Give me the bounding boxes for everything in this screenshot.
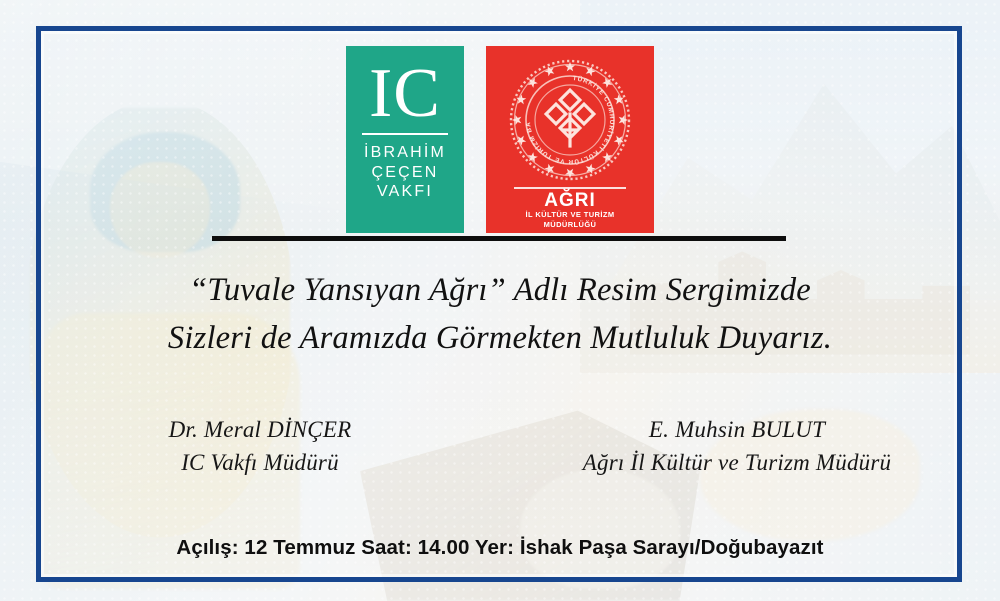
signatory-right-name: E. Muhsin BULUT <box>522 414 952 447</box>
signatories-row: Dr. Meral DİNÇER IC Vakfı Müdürü E. Muhs… <box>60 414 952 479</box>
logo-row: IC İBRAHİM ÇEÇEN VAKFI <box>0 46 1000 233</box>
ministry-emblem-icon: TÜRKİYE CUMHURİYETİ KÜLTÜR VE TURİZM BAK… <box>504 54 636 186</box>
ic-monogram: IC <box>369 62 441 126</box>
agri-logo-subtitle-one: İL KÜLTÜR VE TURİZM <box>526 210 615 220</box>
ic-logo-wordmark: İBRAHİM ÇEÇEN VAKFI <box>364 143 446 202</box>
ic-vakfi-logo: IC İBRAHİM ÇEÇEN VAKFI <box>346 46 464 233</box>
event-invitation-poster: IC İBRAHİM ÇEÇEN VAKFI <box>0 0 1000 601</box>
agri-culture-tourism-logo: TÜRKİYE CUMHURİYETİ KÜLTÜR VE TURİZM BAK… <box>486 46 654 233</box>
headline-line-1: “Tuvale Yansıyan Ağrı” Adlı Resim Sergim… <box>189 272 811 308</box>
svg-text:TÜRKİYE CUMHURİYETİ KÜLTÜR VE: TÜRKİYE CUMHURİYETİ KÜLTÜR VE TURİZM BAK… <box>504 54 615 167</box>
event-details-footer: Açılış: 12 Temmuz Saat: 14.00 Yer: İshak… <box>0 536 1000 560</box>
invitation-headline: “Tuvale Yansıyan Ağrı” Adlı Resim Sergim… <box>50 266 950 362</box>
agri-logo-title: AĞRI <box>544 191 596 211</box>
agri-logo-subtitle-two: MÜDÜRLÜĞÜ <box>544 220 597 230</box>
signatory-right: E. Muhsin BULUT Ağrı İl Kültür ve Turizm… <box>522 414 952 479</box>
ic-logo-line-3: VAKFI <box>364 182 446 202</box>
agri-logo-rule <box>514 187 626 189</box>
signatory-left: Dr. Meral DİNÇER IC Vakfı Müdürü <box>60 414 460 479</box>
ic-logo-line-2: ÇEÇEN <box>364 163 446 183</box>
signatory-left-role: IC Vakfı Müdürü <box>60 447 460 480</box>
headline-line-2: Sizleri de Aramızda Görmekten Mutluluk D… <box>50 314 950 362</box>
horizontal-divider <box>212 236 786 241</box>
ic-logo-rule <box>362 133 448 135</box>
ic-logo-line-1: İBRAHİM <box>364 143 446 163</box>
signatory-left-name: Dr. Meral DİNÇER <box>60 414 460 447</box>
signatory-right-role: Ağrı İl Kültür ve Turizm Müdürü <box>522 447 952 480</box>
